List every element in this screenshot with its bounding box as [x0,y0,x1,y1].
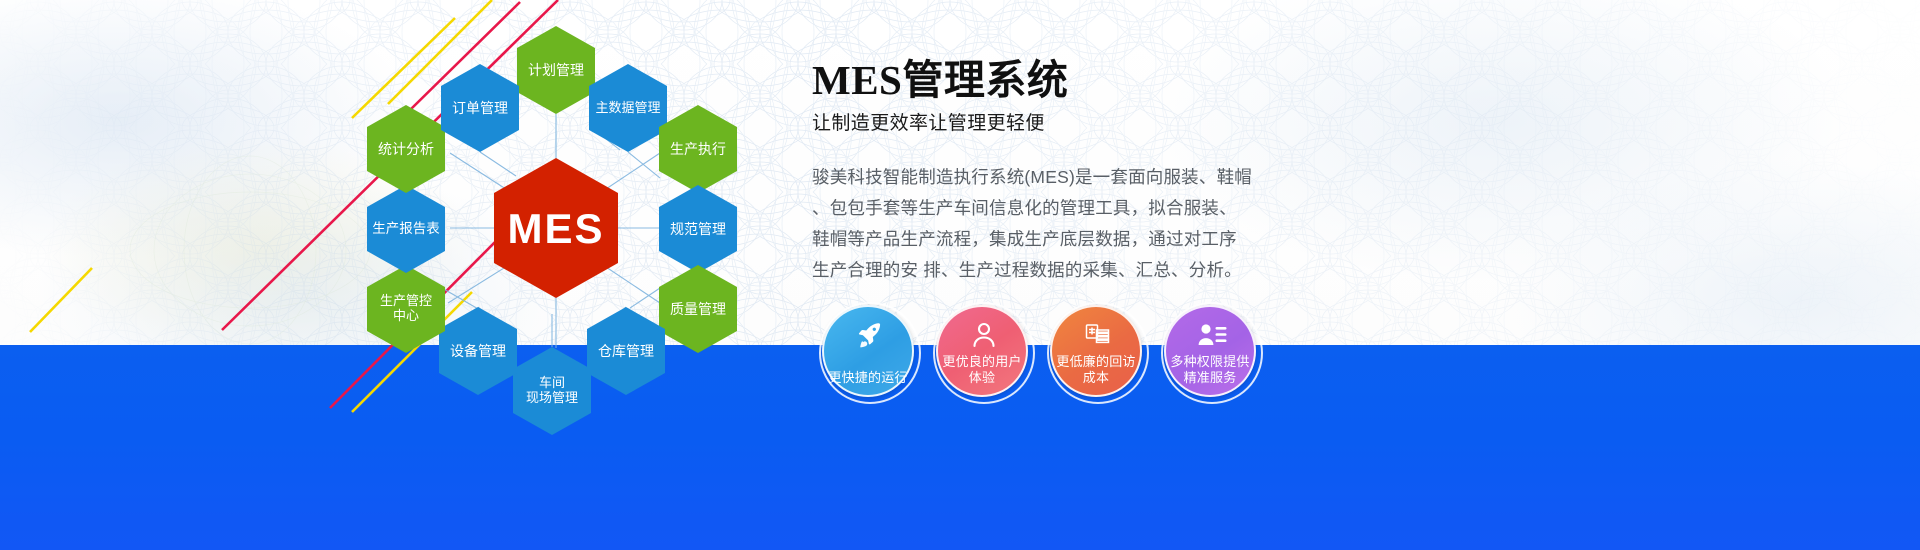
money-icon [1052,320,1144,350]
page-title: MES管理系统 [812,58,1292,103]
rocket-icon [824,320,916,350]
page-subtitle: 让制造更效率让管理更轻便 [812,113,1292,136]
badge-permissions[interactable]: 多种权限提供 精准服务 [1164,305,1256,397]
badge-ring [1161,302,1263,404]
hex-node-warehouse[interactable] [587,307,665,395]
hex-diagram-svg: MES [330,18,790,438]
badge-ring [933,302,1035,404]
hex-node-masterdata[interactable] [589,64,667,152]
paragraph-line-1: 骏美科技智能制造执行系统(MES)是一套面向服装、鞋帽 [812,162,1264,193]
badge-ring [819,302,921,404]
hex-node-equipment[interactable] [439,307,517,395]
hex-node-quality[interactable] [659,265,737,353]
hex-diagram: MES 计划管理 主数据管理 生产执行 规范管理 质量管理 仓库管理 车间 现场… [330,18,790,438]
hex-node-execution[interactable] [659,105,737,193]
hex-node-report[interactable] [367,185,445,273]
hex-node-order[interactable] [441,64,519,152]
hex-node-control[interactable] [367,265,445,353]
hex-node-statistics[interactable] [367,105,445,193]
user-list-icon [1166,320,1258,350]
hex-node-plan[interactable] [517,26,595,114]
badge-faster-operation[interactable]: 更快捷的运行 [822,305,914,397]
badge-better-experience[interactable]: 更优良的用户 体验 [936,305,1028,397]
content-panel: MES管理系统 让制造更效率让管理更轻便 骏美科技智能制造执行系统(MES)是一… [812,58,1292,286]
paragraph-line-3: 鞋帽等产品生产流程，集成生产底层数据，通过对工序 [812,224,1264,255]
paragraph-line-2: 、包包手套等生产车间信息化的管理工具，拟合服装、 [812,193,1264,224]
mes-banner: MES 计划管理 主数据管理 生产执行 规范管理 质量管理 仓库管理 车间 现场… [0,0,1920,550]
hex-center-label: MES [507,205,604,252]
badge-ring [1047,302,1149,404]
badge-lower-cost[interactable]: 更低廉的回访 成本 [1050,305,1142,397]
hex-node-workshop[interactable] [513,347,591,435]
feature-badges: 更快捷的运行 更优良的用户 体验 [822,305,1292,405]
hex-node-standard[interactable] [659,185,737,273]
paragraph-line-4: 生产合理的安 排、生产过程数据的采集、汇总、分析。 [812,255,1264,286]
description-paragraph: 骏美科技智能制造执行系统(MES)是一套面向服装、鞋帽 、包包手套等生产车间信息… [812,162,1264,286]
user-icon [938,320,1030,350]
